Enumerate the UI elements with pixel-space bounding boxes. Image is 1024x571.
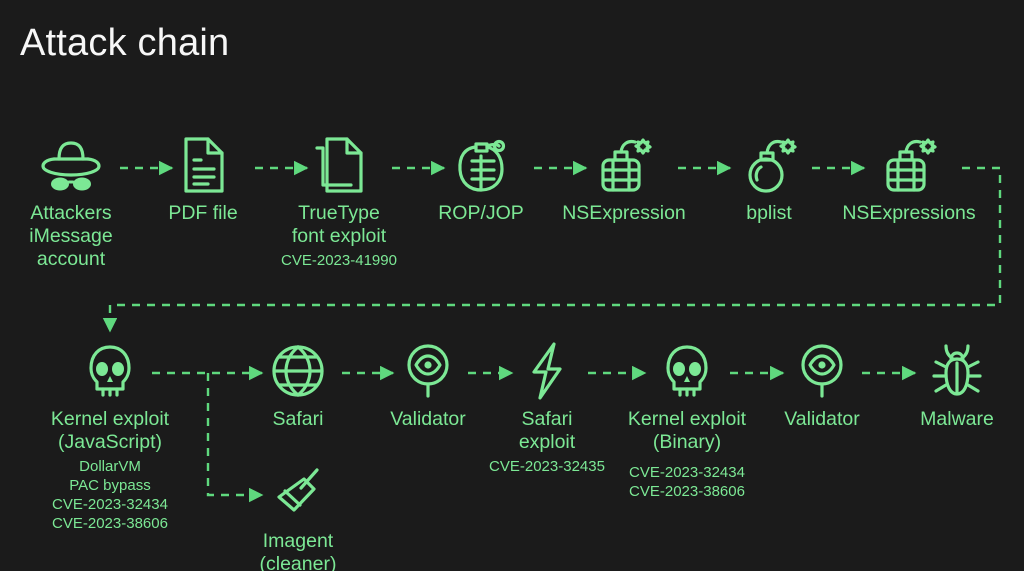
attack-chain-diagram: Attack chain [0, 0, 1024, 571]
node-label: NSExpressions [824, 202, 994, 225]
node-label: Imagent (cleaner) [213, 530, 383, 571]
node-label: Kernel exploit (JavaScript) [25, 408, 195, 454]
node-kernel-exploit-javascript[interactable]: Kernel exploit (JavaScript) DollarVM PAC… [25, 340, 195, 533]
bug-icon [872, 340, 1024, 402]
node-sublabel: CVE-2023-32434 CVE-2023-38606 [602, 463, 772, 501]
skull-icon [25, 340, 195, 402]
node-malware[interactable]: Malware [872, 340, 1024, 431]
node-sublabel: CVE-2023-41990 [254, 251, 424, 270]
node-label: Malware [872, 408, 1024, 431]
broom-icon [213, 462, 383, 524]
page-title: Attack chain [20, 22, 229, 65]
grenade-fuse-icon [824, 134, 994, 196]
node-nsexpressions[interactable]: NSExpressions [824, 134, 994, 225]
node-sublabel: DollarVM PAC bypass CVE-2023-32434 CVE-2… [25, 457, 195, 533]
node-imagent-cleaner[interactable]: Imagent (cleaner) [213, 462, 383, 571]
